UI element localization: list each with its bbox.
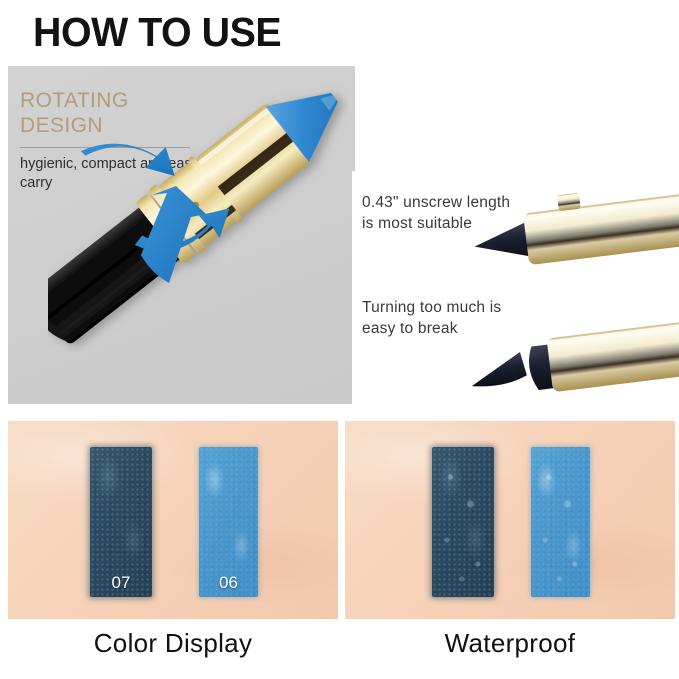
color-display-caption: Color Display: [8, 628, 338, 659]
rotating-pencil-icon: [48, 66, 348, 352]
swatch-waterproof-light: [531, 447, 590, 597]
instruction-2-line-1: Turning too much is: [362, 297, 501, 318]
page-title: HOW TO USE: [33, 9, 281, 56]
water-droplets-icon: [531, 447, 590, 597]
swatch-waterproof-dark: [432, 447, 494, 597]
infographic-page: HOW TO USE ROTATING DESIGN hygienic, com…: [0, 0, 679, 679]
waterproof-caption: Waterproof: [345, 628, 675, 659]
swatch-07: 07: [90, 447, 152, 597]
instructions-panel: 0.43" unscrew length is most suitable Tu…: [352, 171, 679, 404]
pencil-illustration: [8, 66, 355, 404]
pencil-correct-tip-icon: [466, 189, 679, 281]
waterproof-panel: [345, 421, 675, 619]
color-display-panel: 07 06: [8, 421, 338, 619]
swatch-06-label: 06: [199, 573, 258, 593]
swatch-06: 06: [199, 447, 258, 597]
water-droplets-icon: [432, 447, 494, 597]
swatch-07-label: 07: [90, 573, 152, 593]
pencil-broken-tip-icon: [466, 319, 679, 411]
rotating-design-panel: ROTATING DESIGN hygienic, compact and ea…: [8, 66, 355, 404]
broken-tip-fragment: [468, 351, 527, 388]
